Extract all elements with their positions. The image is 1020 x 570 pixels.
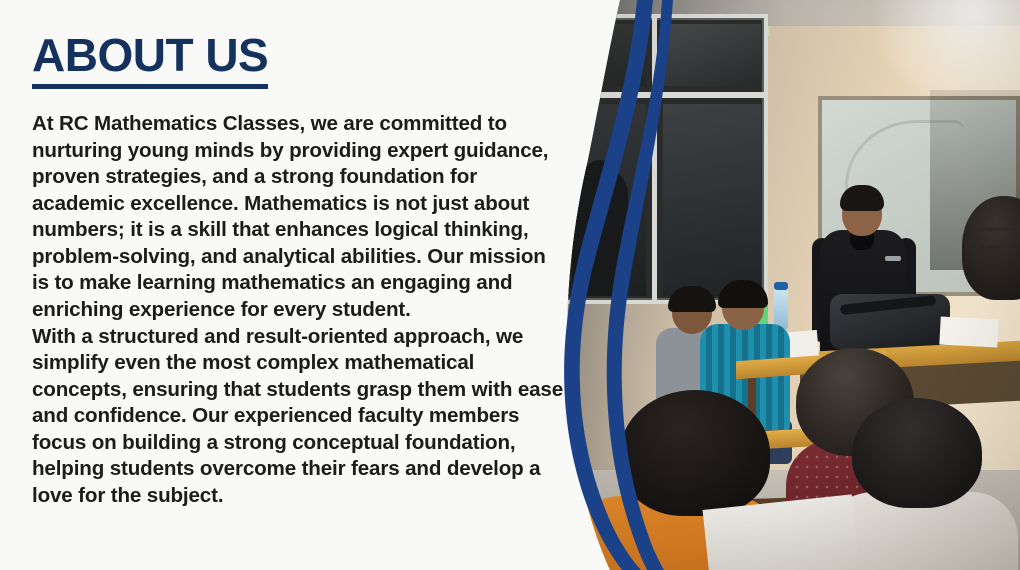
about-us-slide: ABOUT US At RC Mathematics Classes, we a… (0, 0, 1020, 570)
about-paragraph-2: With a structured and result-oriented ap… (32, 324, 567, 510)
page-title: ABOUT US (32, 32, 268, 89)
classroom-photo-panel (600, 0, 1020, 570)
text-panel: ABOUT US At RC Mathematics Classes, we a… (0, 0, 600, 570)
about-paragraph-1: At RC Mathematics Classes, we are commit… (32, 111, 567, 324)
